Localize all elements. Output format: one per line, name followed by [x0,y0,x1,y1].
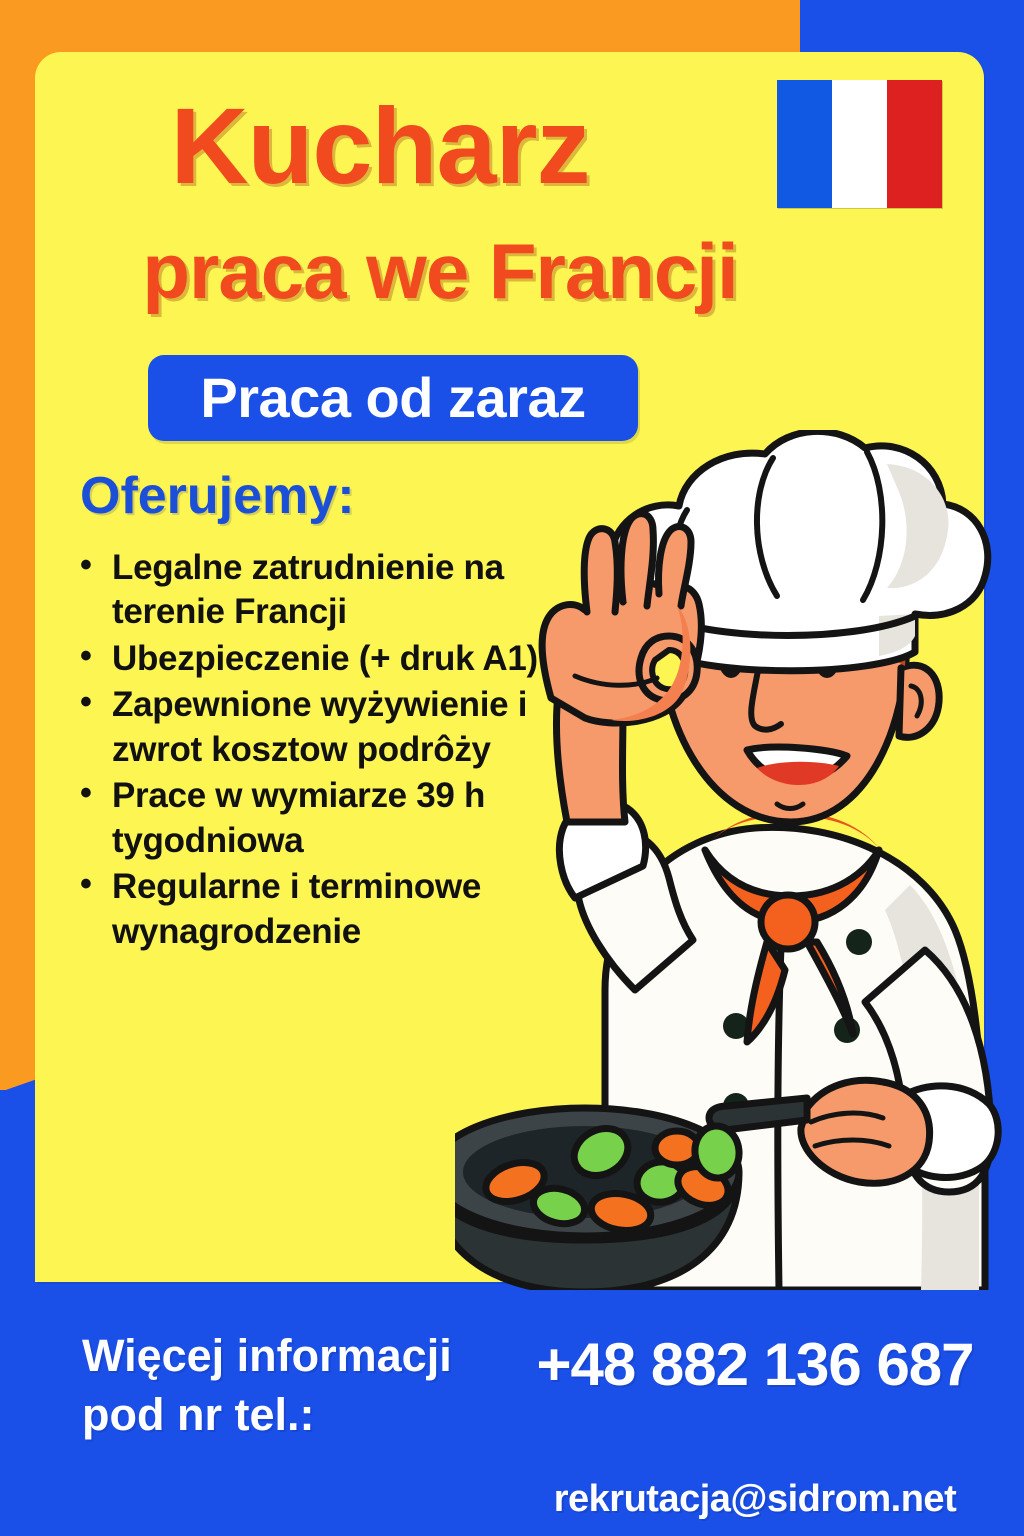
poster-subtitle: praca we Francji [0,232,880,310]
jacket-button [846,929,872,955]
pea-piece [692,1124,741,1180]
contact-phone[interactable]: +48 882 136 687 [520,1332,990,1398]
flag-stripe-white [832,80,887,208]
finger-index [584,529,617,612]
right-hand [801,1080,930,1183]
job-advert-poster: Kucharz praca we Francji Praca od zaraz … [0,0,1024,1536]
contact-email[interactable]: rekrutacja@sidrom.net [500,1480,1010,1518]
finger-middle [621,514,653,606]
finger-ring [658,527,691,606]
flag-stripe-blue [777,80,832,208]
chef-illustration [455,430,1024,1290]
availability-badge: Praca od zaraz [148,355,638,441]
chef-cook-graphic [455,430,1024,1290]
contact-label: Więcej informacji pod nr tel.: [82,1326,512,1445]
availability-badge-label: Praca od zaraz [200,370,585,426]
france-flag-icon [777,80,942,208]
poster-title: Kucharz [0,92,760,200]
flag-stripe-red [887,80,942,208]
offers-heading: Oferujemy: [80,470,355,522]
